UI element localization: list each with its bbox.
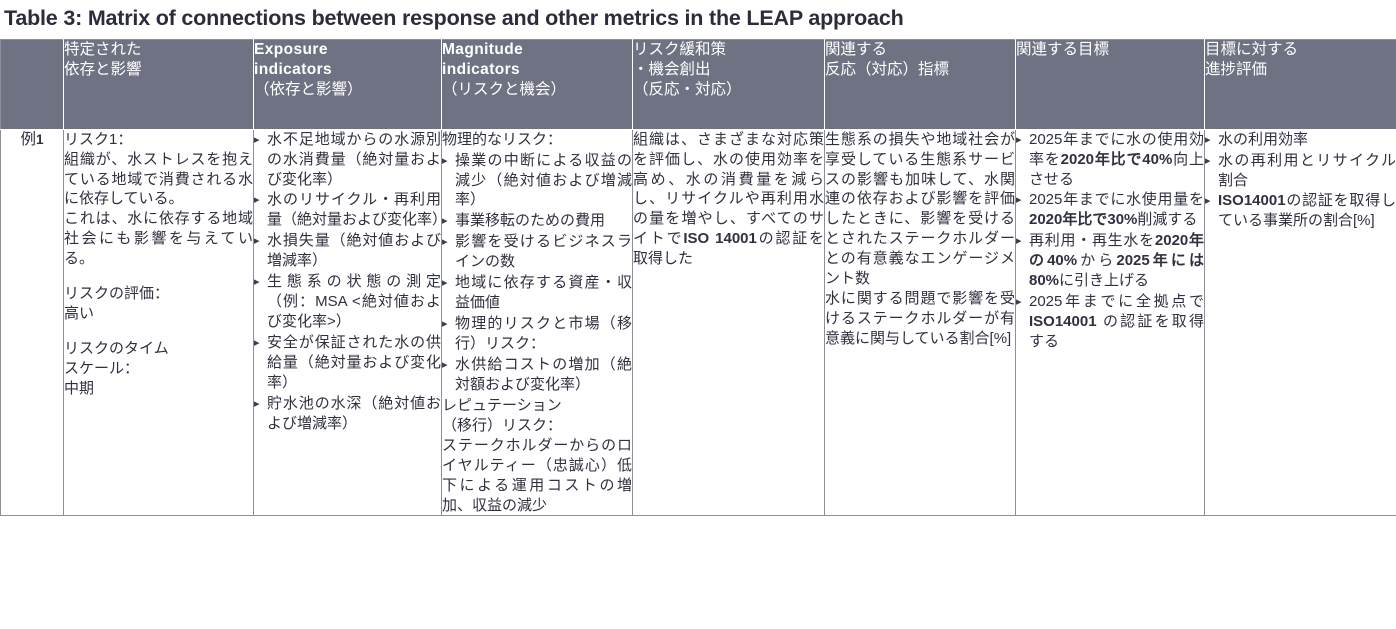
risk-body-2: これは、水に依存する地域社会にも影響を与えている。 xyxy=(64,209,253,269)
exposure-indicator-list: ▸水不足地域からの水源別の水消費量（絶対量および変化率） ▸水のリサイクル・再利… xyxy=(254,130,441,434)
bullet-triangle-icon: ▸ xyxy=(254,190,260,210)
list-item: ▸2025年までに水の使用効率を2020年比で40%向上させる xyxy=(1016,130,1204,190)
col-header-magnitude-en1: Magnitude xyxy=(442,40,632,60)
bullet-triangle-icon: ▸ xyxy=(442,273,448,293)
risk-timescale-value: 中期 xyxy=(64,379,253,399)
risk-assessment-value: 高い xyxy=(64,304,253,324)
table-row: 例1 リスク1： 組織が、水ストレスを抱えている地域で消費される水に依存している… xyxy=(1,129,1396,516)
bullet-triangle-icon: ▸ xyxy=(254,333,260,353)
list-item: ▸水損失量（絶対値および増減率） xyxy=(254,231,441,271)
col-header-mitigation-line3: （反応・対応） xyxy=(633,80,824,100)
risk-assessment-label: リスクの評価： xyxy=(64,284,253,304)
cell-progress-assessment: ▸水の利用効率 ▸水の再利用とリサイクル割合 ▸ISO14001の認証を取得して… xyxy=(1205,129,1396,516)
goal-part-highlight: 2020年比で30% xyxy=(1029,211,1137,228)
mitigation-text: 組織は、さまざまな対応策を評価し、水の使用効率を高め、水の消費量を減らし、リサイ… xyxy=(633,130,824,270)
list-item-text: 水の再利用とリサイクル割合 xyxy=(1218,152,1396,189)
progress-metrics-list: ▸水の利用効率 ▸水の再利用とリサイクル割合 ▸ISO14001の認証を取得して… xyxy=(1205,130,1396,232)
list-item-text: 物理的リスクと市場（移行）リスク： xyxy=(455,315,632,352)
reputation-risk-body: ステークホルダーからのロイヤルティー（忠誠心）低下による運用コストの増加、収益の… xyxy=(442,436,632,516)
mitigation-iso-standard: ISO 14001 xyxy=(683,230,757,247)
goal-part: 再利用・再生水を xyxy=(1029,232,1155,249)
list-item: ▸2025年までに水使用量を2020年比で30%削減する xyxy=(1016,190,1204,230)
bullet-triangle-icon: ▸ xyxy=(1205,191,1211,211)
list-item: ▸操業の中断による収益の減少（絶対値および増減率） xyxy=(442,151,632,211)
col-header-progress: 目標に対する 進捗評価 xyxy=(1205,39,1396,129)
list-item: ▸水のリサイクル・再利用量（絶対量および変化率） xyxy=(254,190,441,230)
col-header-identified-line2: 依存と影響 xyxy=(64,60,253,80)
physical-risk-label: 物理的なリスク： xyxy=(442,130,632,150)
list-item: ▸ISO14001の認証を取得している事業所の割合[%] xyxy=(1205,191,1396,231)
related-goals-list: ▸2025年までに水の使用効率を2020年比で40%向上させる ▸2025年まで… xyxy=(1016,130,1204,352)
col-header-mitigation-line1: リスク緩和策 xyxy=(633,40,824,60)
list-item: ▸安全が保証された水の供給量（絶対量および変化率） xyxy=(254,333,441,393)
goal-part-highlight: 2020年比で40% xyxy=(1061,151,1173,168)
bullet-triangle-icon: ▸ xyxy=(254,394,260,414)
col-header-mitigation-line2: ・機会創出 xyxy=(633,60,824,80)
list-item-text: 事業移転のための費用 xyxy=(455,212,605,229)
list-item: ▸影響を受けるビジネスラインの数 xyxy=(442,232,632,272)
leap-matrix-table: 特定された 依存と影響 Exposure indicators （依存と影響） … xyxy=(0,39,1396,517)
col-header-exposure: Exposure indicators （依存と影響） xyxy=(254,39,442,129)
goal-part: 2025年までに水使用量を xyxy=(1029,191,1204,208)
goal-part: に引き上げる xyxy=(1059,272,1149,289)
list-item-text: 水損失量（絶対値および増減率） xyxy=(267,232,441,269)
col-header-index xyxy=(1,39,64,129)
goal-part: 2025年までに全拠点で xyxy=(1029,293,1204,310)
col-header-exposure-jp: （依存と影響） xyxy=(254,80,441,100)
list-item: ▸水の利用効率 xyxy=(1205,130,1396,150)
row-index-number: 1 xyxy=(36,132,44,147)
response-indicator-text-1: 生態系の損失や地域社会が享受している生態系サービスの影響も加味して、水関連の依存… xyxy=(825,130,1015,290)
bullet-triangle-icon: ▸ xyxy=(1016,190,1022,210)
goal-part: 削減する xyxy=(1137,211,1197,228)
bullet-triangle-icon: ▸ xyxy=(1016,292,1022,312)
col-header-mitigation: リスク緩和策 ・機会創出 （反応・対応） xyxy=(633,39,825,129)
row-index-label: 例 xyxy=(20,131,36,148)
list-item-text: 貯水池の水深（絶対値および増減率） xyxy=(267,395,441,432)
list-item: ▸水不足地域からの水源別の水消費量（絶対量および変化率） xyxy=(254,130,441,190)
list-item-text: 安全が保証された水の供給量（絶対量および変化率） xyxy=(267,334,441,391)
reputation-risk-label-1: レピュテーション xyxy=(442,396,632,416)
bullet-triangle-icon: ▸ xyxy=(1016,130,1022,150)
bullet-triangle-icon: ▸ xyxy=(254,130,260,150)
goal-part-highlight: ISO14001 xyxy=(1029,313,1097,330)
bullet-triangle-icon: ▸ xyxy=(1205,151,1211,171)
bullet-triangle-icon: ▸ xyxy=(442,232,448,252)
risk-body-1: 組織が、水ストレスを抱えている地域で消費される水に依存している。 xyxy=(64,150,253,210)
reputation-risk-label-2: （移行）リスク： xyxy=(442,416,632,436)
bullet-triangle-icon: ▸ xyxy=(442,355,448,375)
cell-exposure-indicators: ▸水不足地域からの水源別の水消費量（絶対量および変化率） ▸水のリサイクル・再利… xyxy=(254,129,442,516)
list-item: ▸事業移転のための費用 xyxy=(442,211,632,231)
col-header-identified-line1: 特定された xyxy=(64,40,253,60)
col-header-exposure-en2: indicators xyxy=(254,60,441,80)
col-header-magnitude-jp: （リスクと機会） xyxy=(442,80,632,100)
cell-row-index: 例1 xyxy=(1,129,64,516)
cell-identified-dependencies: リスク1： 組織が、水ストレスを抱えている地域で消費される水に依存している。 こ… xyxy=(64,129,254,516)
risk-timescale-label-2: スケール： xyxy=(64,359,253,379)
col-header-response-indicators: 関連する 反応（対応）指標 xyxy=(825,39,1016,129)
list-item: ▸水の再利用とリサイクル割合 xyxy=(1205,151,1396,191)
col-header-response-line1: 関連する xyxy=(825,40,1015,60)
table-header-row: 特定された 依存と影響 Exposure indicators （依存と影響） … xyxy=(1,39,1396,129)
col-header-progress-line1: 目標に対する xyxy=(1205,40,1396,60)
col-header-progress-line2: 進捗評価 xyxy=(1205,60,1396,80)
cell-related-goals: ▸2025年までに水の使用効率を2020年比で40%向上させる ▸2025年まで… xyxy=(1016,129,1205,516)
list-item: ▸地域に依存する資産・収益価値 xyxy=(442,273,632,313)
col-header-magnitude-en2: indicators xyxy=(442,60,632,80)
list-item: ▸物理的リスクと市場（移行）リスク： xyxy=(442,314,632,354)
table-caption: Table 3: Matrix of connections between r… xyxy=(0,0,1396,39)
list-item-text: 水のリサイクル・再利用量（絶対量および変化率） xyxy=(267,191,447,228)
col-header-magnitude: Magnitude indicators （リスクと機会） xyxy=(442,39,633,129)
list-item: ▸水供給コストの増加（絶対額および変化率） xyxy=(442,355,632,395)
cell-magnitude-indicators: 物理的なリスク： ▸操業の中断による収益の減少（絶対値および増減率） ▸事業移転… xyxy=(442,129,633,516)
col-header-goals-line1: 関連する目標 xyxy=(1016,40,1204,60)
col-header-response-line2: 反応（対応）指標 xyxy=(825,60,1015,80)
col-header-exposure-en1: Exposure xyxy=(254,40,441,60)
magnitude-indicator-list: ▸操業の中断による収益の減少（絶対値および増減率） ▸事業移転のための費用 ▸影… xyxy=(442,151,632,395)
cell-response-indicators: 生態系の損失や地域社会が享受している生態系サービスの影響も加味して、水関連の依存… xyxy=(825,129,1016,516)
list-item-text: 地域に依存する資産・収益価値 xyxy=(455,274,632,311)
list-item-text: 影響を受けるビジネスラインの数 xyxy=(455,233,632,270)
response-indicator-text-2: 水に関する問題で影響を受けるステークホルダーが有意義に関与している割合[%] xyxy=(825,289,1015,349)
bullet-triangle-icon: ▸ xyxy=(254,231,260,251)
list-item-text: 操業の中断による収益の減少（絶対値および増減率） xyxy=(455,152,632,209)
col-header-identified: 特定された 依存と影響 xyxy=(64,39,254,129)
list-item: ▸2025年までに全拠点で ISO14001 の認証を取得する xyxy=(1016,292,1204,352)
table-page: Table 3: Matrix of connections between r… xyxy=(0,0,1396,629)
risk-title: リスク1： xyxy=(64,130,253,150)
list-item: ▸貯水池の水深（絶対値および増減率） xyxy=(254,394,441,434)
list-item-text: 水供給コストの増加（絶対額および変化率） xyxy=(455,356,632,393)
col-header-related-goals: 関連する目標 xyxy=(1016,39,1205,129)
list-item: ▸再利用・再生水を2020年の40%から2025年には80%に引き上げる xyxy=(1016,231,1204,291)
bullet-triangle-icon: ▸ xyxy=(442,211,448,231)
bullet-triangle-icon: ▸ xyxy=(1205,130,1211,150)
list-item-text: 生態系の状態の測定（例：MSA <絶対値および変化率>） xyxy=(267,273,441,330)
goal-part: から xyxy=(1077,252,1116,269)
list-item-text: 水不足地域からの水源別の水消費量（絶対量および変化率） xyxy=(267,131,441,188)
list-item-highlight: ISO14001 xyxy=(1218,192,1286,209)
list-item-text: 水の利用効率 xyxy=(1218,131,1308,148)
bullet-triangle-icon: ▸ xyxy=(254,272,260,292)
risk-timescale-label-1: リスクのタイム xyxy=(64,339,253,359)
bullet-triangle-icon: ▸ xyxy=(1016,231,1022,251)
list-item: ▸生態系の状態の測定（例：MSA <絶対値および変化率>） xyxy=(254,272,441,332)
bullet-triangle-icon: ▸ xyxy=(442,314,448,334)
cell-mitigation-opportunity: 組織は、さまざまな対応策を評価し、水の使用効率を高め、水の消費量を減らし、リサイ… xyxy=(633,129,825,516)
bullet-triangle-icon: ▸ xyxy=(442,151,448,171)
